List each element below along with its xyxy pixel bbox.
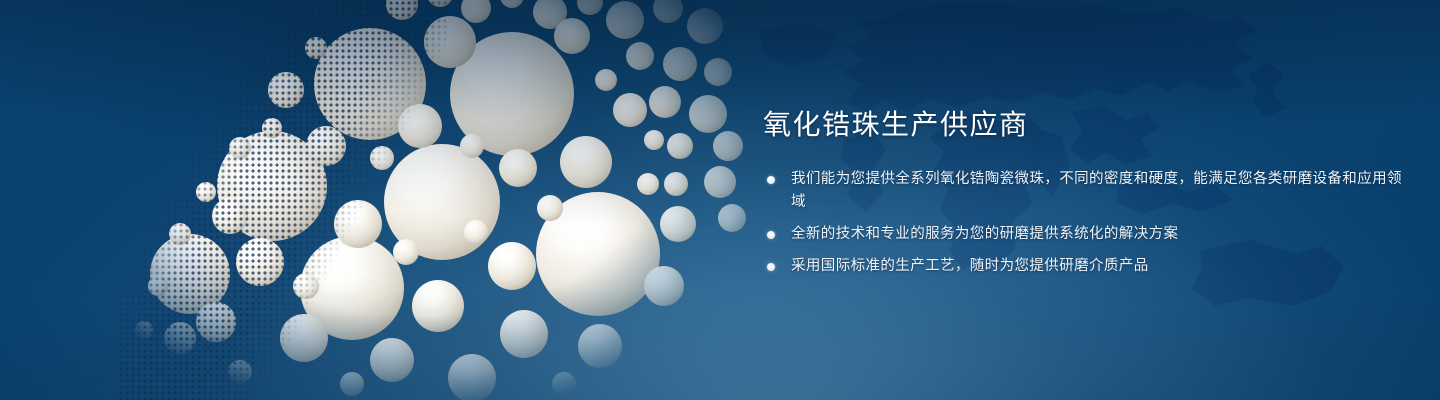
banner-bullet-list: 我们能为您提供全系列氧化锆陶瓷微珠，不同的密度和硬度，能满足您各类研磨设备和应用…: [763, 168, 1403, 278]
bullet-item-2-text: 全新的技术和专业的服务为您的研磨提供系统化的解决方案: [791, 223, 1403, 246]
banner-headline: 氧化锆珠生产供应商: [763, 108, 1403, 142]
bullet-dot-icon: [767, 231, 775, 239]
hero-banner: 氧化锆珠生产供应商 我们能为您提供全系列氧化锆陶瓷微珠，不同的密度和硬度，能满足…: [0, 0, 1440, 400]
bullet-item-1-text: 我们能为您提供全系列氧化锆陶瓷微珠，不同的密度和硬度，能满足您各类研磨设备和应用…: [791, 168, 1403, 214]
bullet-item-2: 全新的技术和专业的服务为您的研磨提供系统化的解决方案: [763, 223, 1403, 246]
bullet-item-1: 我们能为您提供全系列氧化锆陶瓷微珠，不同的密度和硬度，能满足您各类研磨设备和应用…: [763, 168, 1403, 214]
bullet-dot-icon: [767, 176, 775, 184]
bullet-dot-icon: [767, 263, 775, 271]
bullet-item-3-text: 采用国际标准的生产工艺，随时为您提供研磨介质产品: [791, 255, 1403, 278]
banner-copy: 氧化锆珠生产供应商 我们能为您提供全系列氧化锆陶瓷微珠，不同的密度和硬度，能满足…: [763, 108, 1403, 278]
bullet-item-3: 采用国际标准的生产工艺，随时为您提供研磨介质产品: [763, 255, 1403, 278]
